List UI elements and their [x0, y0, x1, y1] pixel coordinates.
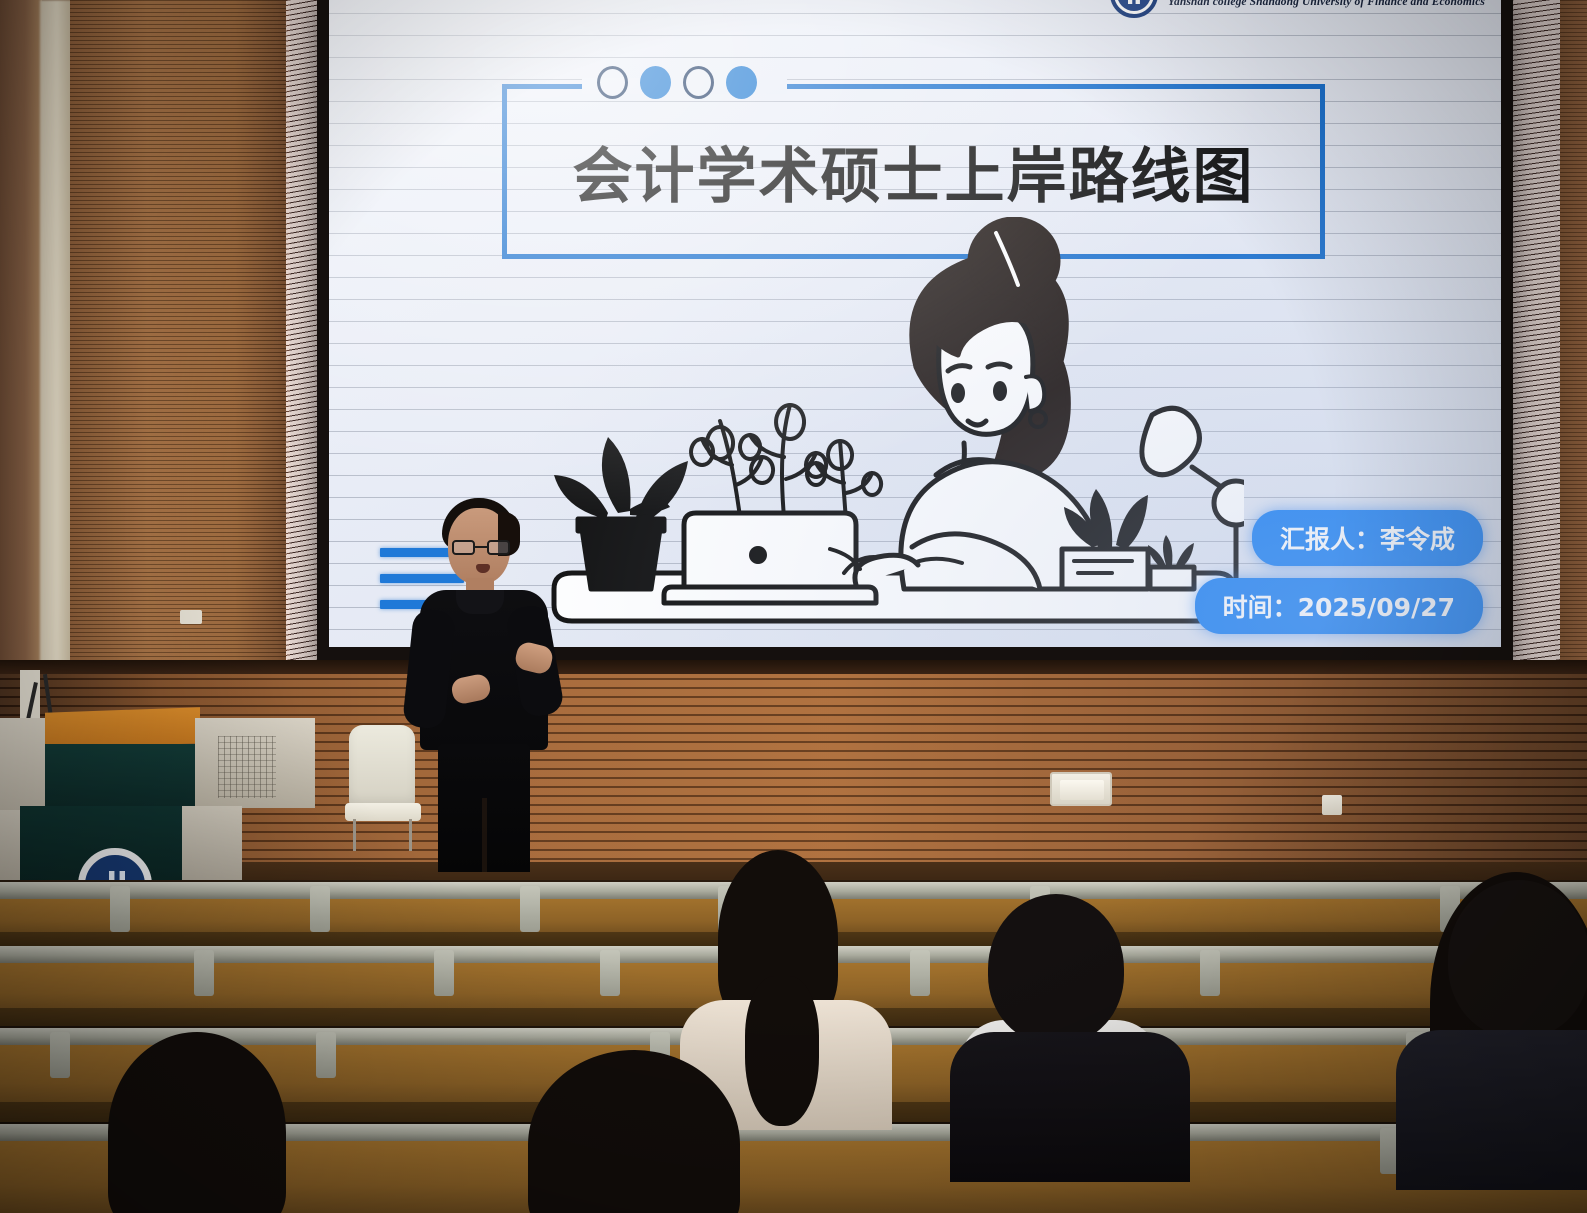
university-header: Yanshan college Shandong University of F…: [1108, 0, 1485, 36]
left-wall-light-strip: [40, 0, 74, 700]
slide-illustration: [544, 217, 1244, 637]
wood-panel-right: [1560, 0, 1587, 700]
university-seal-icon: [1108, 0, 1160, 36]
slide-pills: 汇报人：李令成 时间：2025/09/27: [1195, 510, 1483, 634]
left-wall-paint: [0, 0, 42, 700]
university-english-name: Yanshan college Shandong University of F…: [1168, 0, 1485, 8]
date-pill: 时间：2025/09/27: [1195, 578, 1483, 634]
lecture-hall-scene: Yanshan college Shandong University of F…: [0, 0, 1587, 1213]
presenter: [398, 498, 583, 870]
wall-switch-left-icon[interactable]: [180, 610, 202, 624]
wood-panel-left: [70, 0, 290, 700]
audience-person-mid-right: [988, 894, 1124, 1044]
presenter-pill: 汇报人：李令成: [1252, 510, 1483, 566]
podium: [0, 700, 320, 900]
audience-person-right: [1448, 880, 1587, 1038]
outlet-icon[interactable]: [1322, 795, 1342, 815]
light-switch-panel-icon[interactable]: [1050, 772, 1112, 806]
glasses-icon: [452, 540, 510, 556]
audience-hall: [0, 880, 1587, 1213]
